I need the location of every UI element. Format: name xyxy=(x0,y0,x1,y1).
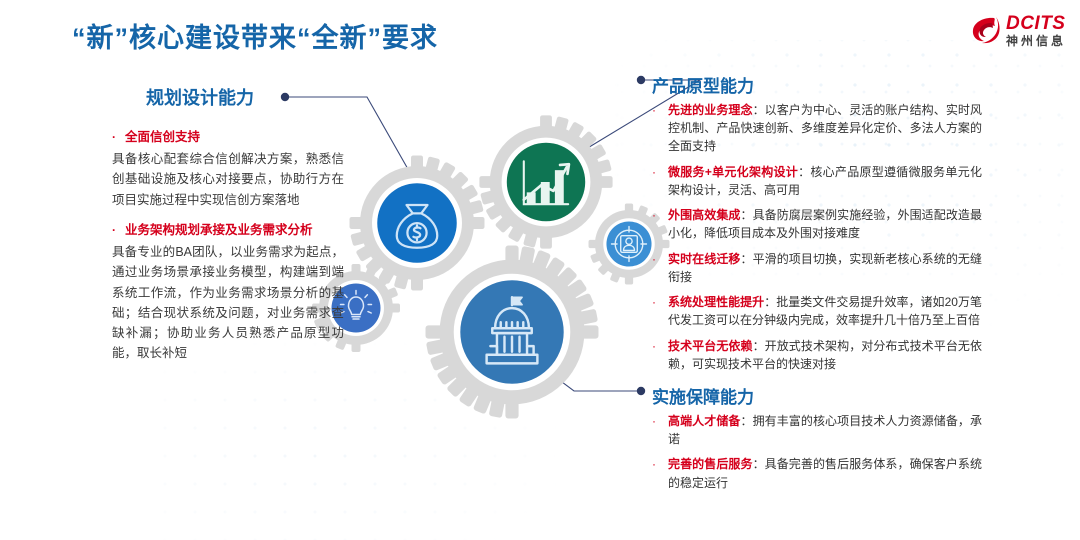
prototype-item-2-title: 微服务+单元化架构设计 xyxy=(668,165,798,179)
logo-text-en: DCITS xyxy=(1006,14,1066,33)
section-heading-implementation-assurance: 实施保障能力 xyxy=(652,383,754,408)
list-item: · 完善的售后服务：具备完善的售后服务体系，确保客户系统的稳定运行 xyxy=(652,455,982,491)
list-item: · 微服务+单元化架构设计：核心产品原型遵循微服务单元化架构设计，灵活、高可用 xyxy=(652,163,982,199)
bullet-dot-icon: · xyxy=(112,221,116,239)
right-content-block-prototype: · 先进的业务理念：以客户为中心、灵活的账户结构、实时风控机制、产品快速创新、多… xyxy=(652,101,982,380)
bullet-dot-icon: · xyxy=(652,337,659,373)
bullet-dot-icon: · xyxy=(652,163,659,199)
prototype-item-5: 系统处理性能提升：批量类文件交易提升效率，诸如20万笔代发工资可以在分钟级内完成… xyxy=(668,293,982,329)
prototype-item-1: 先进的业务理念：以客户为中心、灵活的账户结构、实时风控机制、产品快速创新、多维度… xyxy=(668,101,982,156)
list-item: · 实时在线迁移：平滑的项目切换，实现新老核心系统的无缝衔接 xyxy=(652,250,982,286)
bullet-dot-icon: · xyxy=(652,101,659,156)
left-item-1: · 全面信创支持 具备核心配套综合信创解决方案，熟悉信创基础设施及核心对接要点，… xyxy=(112,128,344,210)
prototype-item-5-title: 系统处理性能提升 xyxy=(668,295,764,309)
assurance-item-1-title: 高端人才储备 xyxy=(668,414,740,428)
assurance-item-1: 高端人才储备：拥有丰富的核心项目技术人力资源储备，承诺 xyxy=(668,412,982,448)
prototype-item-2: 微服务+单元化架构设计：核心产品原型遵循微服务单元化架构设计，灵活、高可用 xyxy=(668,163,982,199)
prototype-item-4-title: 实时在线迁移 xyxy=(668,252,740,266)
bullet-dot-icon: · xyxy=(652,412,659,448)
assurance-item-2: 完善的售后服务：具备完善的售后服务体系，确保客户系统的稳定运行 xyxy=(668,455,982,491)
page-title: “新”核心建设带来“全新”要求 xyxy=(72,16,438,55)
bullet-dot-icon: · xyxy=(112,128,116,146)
dcits-swoosh-icon xyxy=(971,15,1001,47)
list-item: · 先进的业务理念：以客户为中心、灵活的账户结构、实时风控机制、产品快速创新、多… xyxy=(652,101,982,156)
left-item-2-body: 具备专业的BA团队，以业务需求为起点，通过业务场景承接业务模型，构建端到端系统工… xyxy=(112,242,344,364)
left-item-1-heading: · 全面信创支持 xyxy=(112,128,344,146)
list-item: · 外围高效集成：具备防腐层案例实施经验，外围适配改造最小化，降低项目成本及外围… xyxy=(652,206,982,242)
section-heading-planning-design: 规划设计能力 xyxy=(146,84,254,110)
logo-text-cn: 神州信息 xyxy=(1006,35,1066,47)
list-item: · 高端人才储备：拥有丰富的核心项目技术人力资源储备，承诺 xyxy=(652,412,982,448)
slide-canvas: “新”核心建设带来“全新”要求 DCITS 神州信息 xyxy=(0,0,1080,540)
prototype-item-3-title: 外围高效集成 xyxy=(668,208,740,222)
prototype-item-6: 技术平台无依赖：开放式技术架构，对分布式技术平台无依赖，可实现技术平台的快速对接 xyxy=(668,337,982,373)
brand-logo: DCITS 神州信息 xyxy=(971,14,1066,47)
list-item: · 系统处理性能提升：批量类文件交易提升效率，诸如20万笔代发工资可以在分钟级内… xyxy=(652,293,982,329)
bullet-dot-icon: · xyxy=(652,293,659,329)
bullet-dot-icon: · xyxy=(652,250,659,286)
prototype-item-3: 外围高效集成：具备防腐层案例实施经验，外围适配改造最小化，降低项目成本及外围对接… xyxy=(668,206,982,242)
prototype-item-6-title: 技术平台无依赖 xyxy=(668,339,753,353)
bullet-dot-icon: · xyxy=(652,206,659,242)
bullet-dot-icon: · xyxy=(652,455,659,491)
assurance-item-2-title: 完善的售后服务 xyxy=(668,457,753,471)
left-item-1-title: 全面信创支持 xyxy=(125,128,344,146)
left-item-2: · 业务架构规划承接及业务需求分析 具备专业的BA团队，以业务需求为起点，通过业… xyxy=(112,221,344,364)
left-item-1-body: 具备核心配套综合信创解决方案，熟悉信创基础设施及核心对接要点，协助行方在项目实施… xyxy=(112,149,344,210)
bank-building-gear xyxy=(418,238,606,426)
left-item-2-title: 业务架构规划承接及业务需求分析 xyxy=(125,221,344,239)
gear-cluster-graphic xyxy=(300,90,660,450)
prototype-item-1-title: 先进的业务理念 xyxy=(668,103,753,117)
left-item-2-heading: · 业务架构规划承接及业务需求分析 xyxy=(112,221,344,239)
prototype-item-4: 实时在线迁移：平滑的项目切换，实现新老核心系统的无缝衔接 xyxy=(668,250,982,286)
list-item: · 技术平台无依赖：开放式技术架构，对分布式技术平台无依赖，可实现技术平台的快速… xyxy=(652,337,982,373)
right-content-block-assurance: · 高端人才储备：拥有丰富的核心项目技术人力资源储备，承诺 · 完善的售后服务：… xyxy=(652,412,982,499)
left-content-column: · 全面信创支持 具备核心配套综合信创解决方案，熟悉信创基础设施及核心对接要点，… xyxy=(112,128,344,375)
section-heading-product-prototype: 产品原型能力 xyxy=(652,72,754,97)
